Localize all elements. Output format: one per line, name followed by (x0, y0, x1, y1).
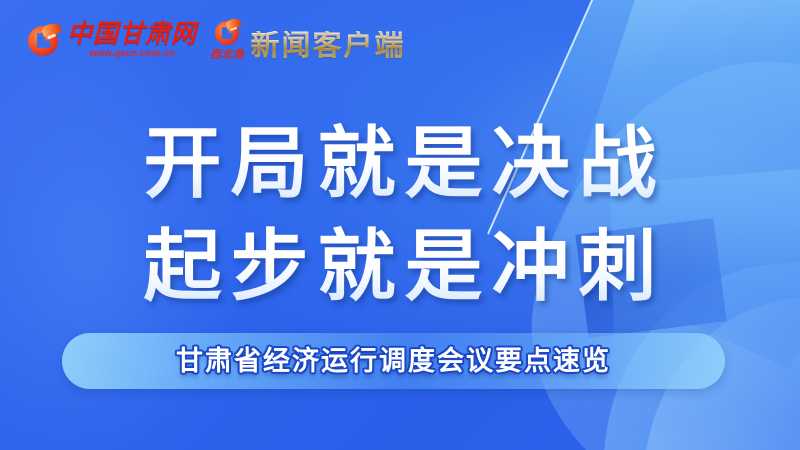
headline-line-1: 开局就是决战 (0, 112, 800, 215)
xibeijiao-mark-group: 西北角 (210, 19, 245, 60)
xibeijiao-swirl-logo-icon (214, 19, 241, 48)
poster-banner: 中国甘肃网 www.gscn.com.cn 西北角 新闻客户端 开局就是决战 起… (0, 0, 800, 450)
logo-gansu-net[interactable]: 中国甘肃网 www.gscn.com.cn (27, 21, 197, 59)
headline-block: 开局就是决战 起步就是冲刺 (0, 112, 800, 318)
news-client-brand-text: 新闻客户端 (251, 31, 406, 60)
gansu-net-wordmark: 中国甘肃网 www.gscn.com.cn (67, 21, 197, 59)
gansu-net-url-text: www.gscn.com.cn (89, 48, 175, 59)
gansu-net-brand-text: 中国甘肃网 (67, 21, 197, 46)
subtitle-pill: 甘肃省经济运行调度会议要点速览 (62, 333, 725, 389)
headline-line-2: 起步就是冲刺 (0, 215, 800, 318)
subtitle-text: 甘肃省经济运行调度会议要点速览 (176, 348, 611, 375)
xibeijiao-caption-text: 西北角 (210, 49, 245, 60)
gansu-net-swirl-logo-icon (27, 23, 61, 59)
header-logo-bar: 中国甘肃网 www.gscn.com.cn 西北角 新闻客户端 (27, 19, 406, 60)
logo-news-client[interactable]: 西北角 新闻客户端 (210, 19, 406, 60)
